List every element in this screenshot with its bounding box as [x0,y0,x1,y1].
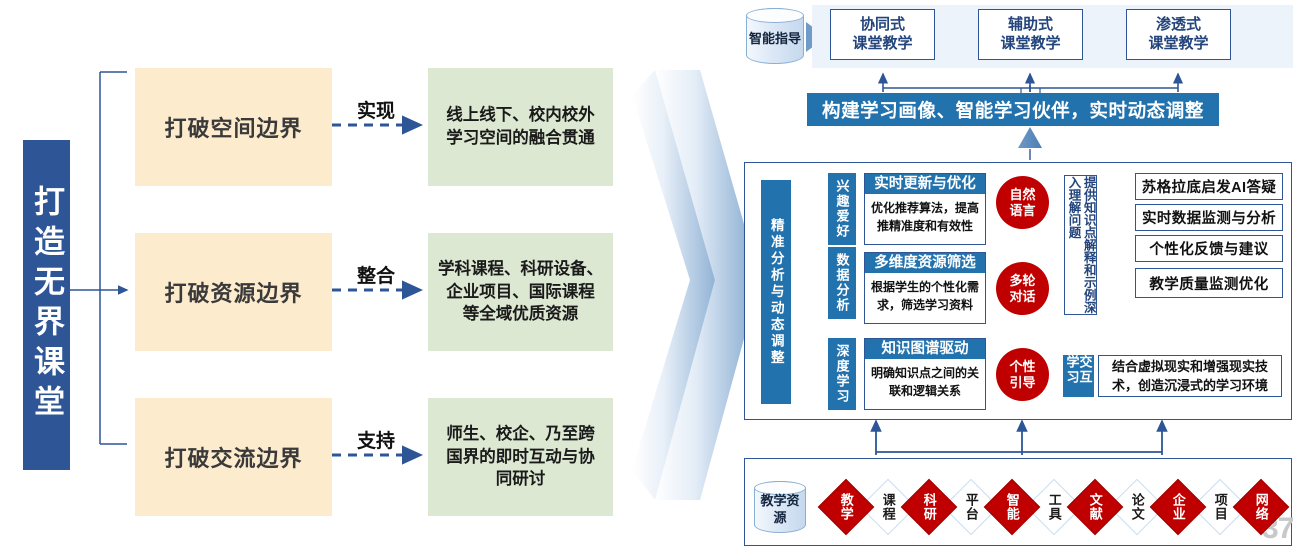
analysis-chip-1[interactable]: 兴趣爱好 [828,173,856,245]
capability-circle-3[interactable]: 个性 引导 [996,348,1049,401]
resource-diamond-label: 教学 [839,493,853,521]
category-box-2[interactable]: 打破资源边界 [135,233,332,351]
teaching-resource-cylinder: 教学资源 [754,481,806,533]
resource-diamond[interactable]: 企业 [1150,479,1207,536]
resource-diamond[interactable]: 科研 [901,479,958,536]
result-box-3[interactable]: 师生、校企、乃至跨 国界的即时互动与协 同研讨 [428,398,613,516]
resource-diamond-label: 网络 [1254,493,1268,521]
analysis-card-3[interactable]: 知识图谱驱动 明确知识点之间的关 联和逻辑关系 [864,338,986,410]
analysis-card-3-title: 知识图谱驱动 [865,339,985,359]
verb-label-1: 实现 [338,96,414,122]
output-box-2[interactable]: 实时数据监测与分析 [1135,204,1283,231]
result-box-2[interactable]: 学科课程、科研设备、 企业项目、国际课程 等全域优质资源 [428,233,613,351]
mode-box-3[interactable]: 渗透式 课堂教学 [1126,9,1231,60]
analysis-card-1-title: 实时更新与优化 [865,174,985,194]
resource-diamond-label: 平台 [964,493,978,521]
vr-chip[interactable]: 交互学习 [1063,355,1094,397]
analysis-card-3-body: 明确知识点之间的关 联和逻辑关系 [865,359,985,404]
verb-label-2: 整合 [338,261,414,287]
verb-label-3: 支持 [338,426,414,452]
slide-canvas: 打造无界课堂 打破空间边界 实现 线上线下、校内校外 学习空间的融合贯通 打破资… [0,0,1298,558]
vr-description-box: 结合虚拟现实和增强现实技 术，创造沉浸式的学习环境 [1098,355,1282,397]
smart-guide-cylinder: 智能指导 [746,8,804,64]
banner-strategy: 构建学习画像、智能学习伙伴，实时动态调整 [807,93,1219,126]
resource-diamond-label: 工具 [1047,493,1061,521]
resource-diamond-label: 项目 [1213,493,1227,521]
output-box-1[interactable]: 苏格拉底启发AI答疑 [1135,173,1283,200]
resource-diamond-label: 课程 [881,493,895,521]
resource-diamond-label: 科研 [922,493,936,521]
resource-diamond[interactable]: 智能 [984,479,1041,536]
cylinder-top-ellipse [746,8,804,23]
analysis-card-1-body: 优化推荐算法，提高 推精准度和有效性 [865,194,985,239]
resource-diamond-label: 企业 [1171,493,1185,521]
teaching-resource-label: 教学资源 [755,488,805,527]
resource-diamond-label: 文献 [1088,493,1102,521]
smart-guide-label: 智能指导 [749,25,801,47]
resource-diamond[interactable]: 教学 [818,479,875,536]
category-box-1[interactable]: 打破空间边界 [135,68,332,186]
resource-diamond[interactable]: 文献 [1067,479,1124,536]
knowledge-note-box: 提供知识点解释和示例深入理解问题 [1064,175,1097,315]
analysis-card-2[interactable]: 多维度资源筛选 根据学生的个性化需 求，筛选学习资料 [864,252,986,324]
resource-diamond-row: 教学课程科研平台智能工具文献论文企业项目网络 [826,480,1288,538]
analysis-chip-3[interactable]: 深度学习 [828,338,856,410]
analysis-strip-label: 精准分析与动态调整 [761,180,791,404]
analysis-card-2-title: 多维度资源筛选 [865,253,985,273]
category-box-3[interactable]: 打破交流边界 [135,398,332,516]
output-box-4[interactable]: 教学质量监测优化 [1135,268,1283,298]
analysis-card-1[interactable]: 实时更新与优化 优化推荐算法，提高 推精准度和有效性 [864,173,986,245]
result-box-1[interactable]: 线上线下、校内校外 学习空间的融合贯通 [428,68,613,186]
capability-circle-2[interactable]: 多轮 对话 [996,262,1049,315]
resource-diamond-label: 智能 [1005,493,1019,521]
capability-circle-1[interactable]: 自然 语言 [996,176,1049,229]
mode-box-2[interactable]: 辅助式 课堂教学 [978,9,1083,60]
analysis-card-2-body: 根据学生的个性化需 求，筛选学习资料 [865,273,985,318]
left-spine-title: 打造无界课堂 [23,140,70,470]
analysis-chip-2[interactable]: 数据分析 [828,247,856,319]
mode-box-1[interactable]: 协同式 课堂教学 [830,9,935,60]
resource-diamond-label: 论文 [1130,493,1144,521]
output-box-3[interactable]: 个性化反馈与建议 [1135,235,1283,262]
